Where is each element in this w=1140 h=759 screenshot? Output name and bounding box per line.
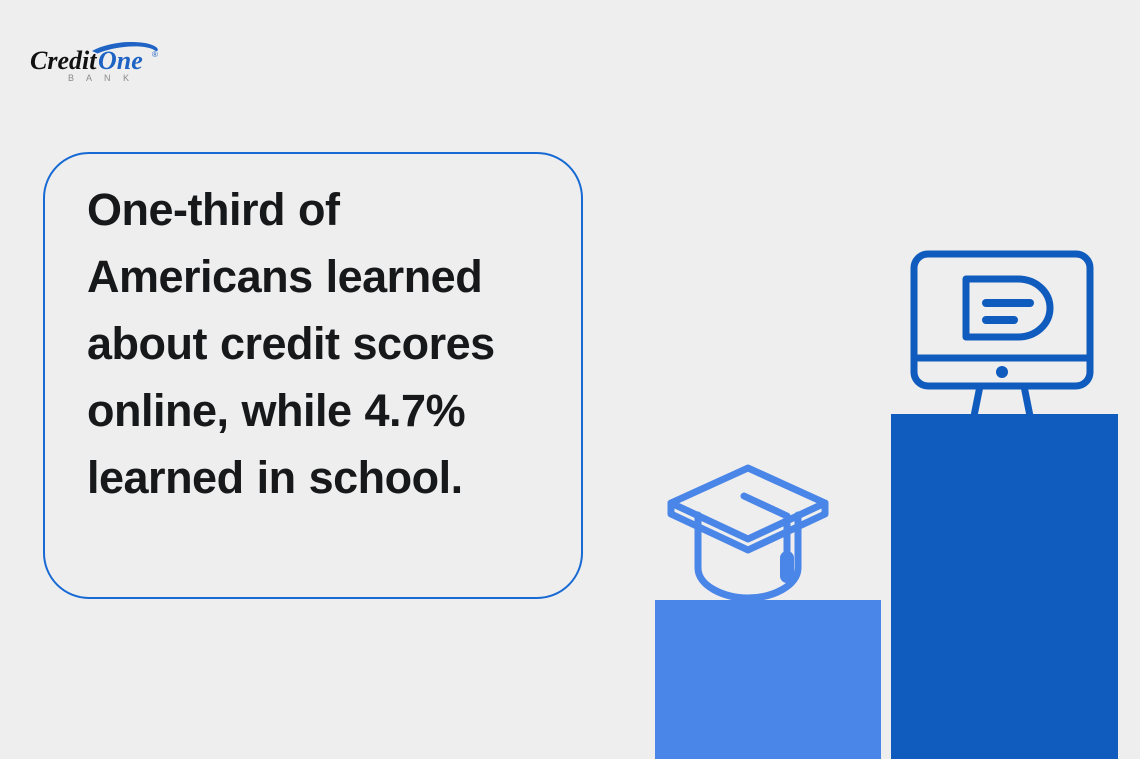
statement-callout-box: One-third of Americans learned about cre… bbox=[43, 152, 583, 599]
statement-text: One-third of Americans learned about cre… bbox=[87, 176, 557, 511]
bar-learned-online bbox=[891, 414, 1118, 759]
speech-bubble bbox=[966, 279, 1050, 337]
infographic-canvas: Credit One ® B A N K One-third of Americ… bbox=[0, 0, 1140, 759]
monitor-stand-left bbox=[974, 386, 980, 416]
credit-one-bank-logo: Credit One ® B A N K bbox=[30, 38, 170, 84]
logo-word-credit: Credit bbox=[30, 46, 97, 75]
desktop-monitor-icon bbox=[908, 248, 1106, 423]
logo-subtitle-bank: B A N K bbox=[68, 73, 134, 83]
monitor-stand-right bbox=[1024, 386, 1030, 416]
graduation-cap-icon bbox=[666, 458, 876, 608]
logo-word-one: One bbox=[98, 46, 143, 75]
bar-learned-in-school bbox=[655, 600, 881, 759]
monitor-power-dot bbox=[996, 366, 1008, 378]
logo-registered-mark: ® bbox=[152, 50, 158, 59]
